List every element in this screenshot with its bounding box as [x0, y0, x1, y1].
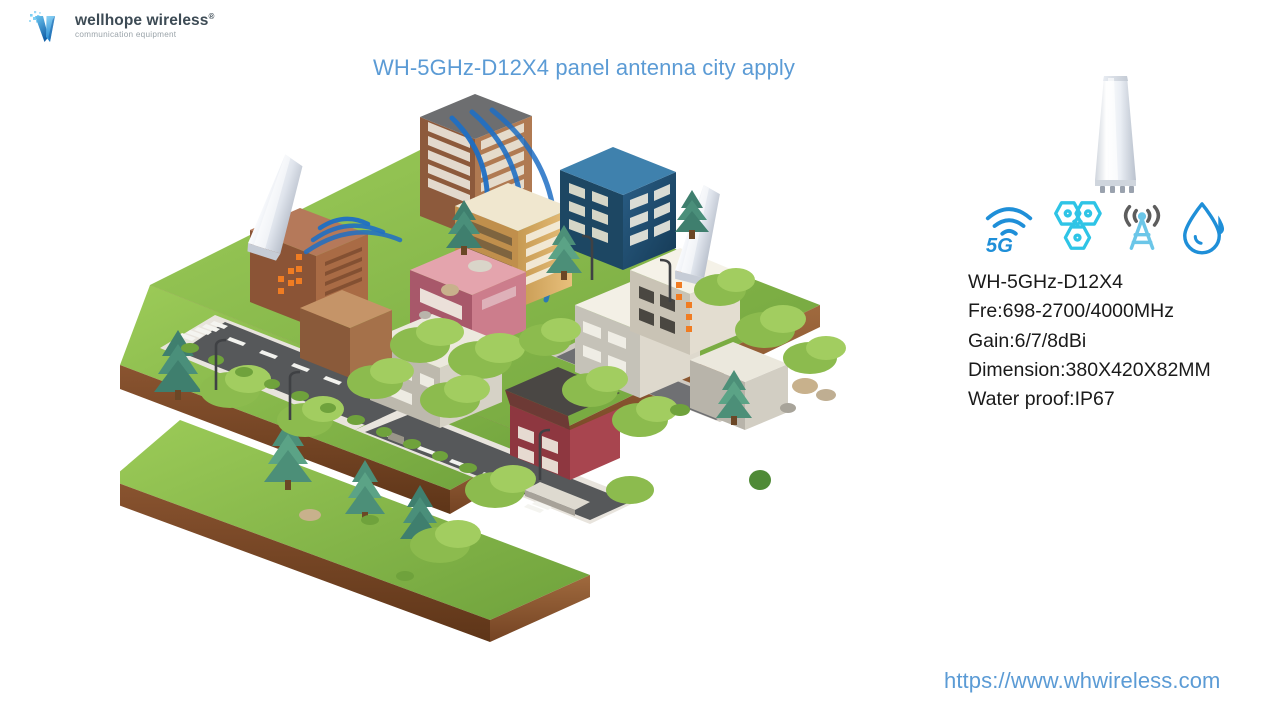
panel-antenna-product-image — [1087, 72, 1143, 197]
brand-tagline: communication equipment — [75, 31, 215, 39]
wellhope-w-mark-icon — [28, 8, 68, 44]
spec-frequency: Fre:698-2700/4000MHz — [968, 297, 1260, 326]
website-url[interactable]: https://www.whwireless.com — [944, 668, 1220, 694]
water-drop-icon — [1179, 197, 1225, 260]
page-title: WH-5GHz-D12X4 panel antenna city apply — [373, 55, 795, 81]
cell-tower-signal-icon — [1114, 197, 1170, 260]
feature-icon-row: 5G — [982, 200, 1207, 260]
brand-name: wellhope wireless® — [75, 13, 215, 29]
hexagon-network-icon — [1047, 197, 1105, 260]
spec-waterproof: Water proof:IP67 — [968, 385, 1260, 414]
antenna-connectors — [1100, 186, 1134, 193]
spec-dimension: Dimension:380X420X82MM — [968, 356, 1260, 385]
spec-gain: Gain:6/7/8dBi — [968, 327, 1260, 356]
5g-wifi-signal-icon: 5G — [982, 197, 1038, 260]
spec-model: WH-5GHz-D12X4 — [968, 268, 1260, 297]
registered-trademark-icon: ® — [209, 12, 215, 21]
brand-name-label: wellhope wireless — [75, 12, 209, 29]
brand-logo: wellhope wireless® communication equipme… — [28, 8, 215, 44]
building-blue — [560, 147, 676, 270]
brand-logo-text: wellhope wireless® communication equipme… — [75, 13, 215, 40]
poster-canvas: wellhope wireless® communication equipme… — [0, 0, 1267, 713]
isometric-city-illustration — [120, 90, 910, 650]
svg-text:5G: 5G — [986, 235, 1013, 255]
standalone-bush — [749, 470, 771, 490]
product-spec-list: WH-5GHz-D12X4 Fre:698-2700/4000MHz Gain:… — [968, 268, 1260, 414]
